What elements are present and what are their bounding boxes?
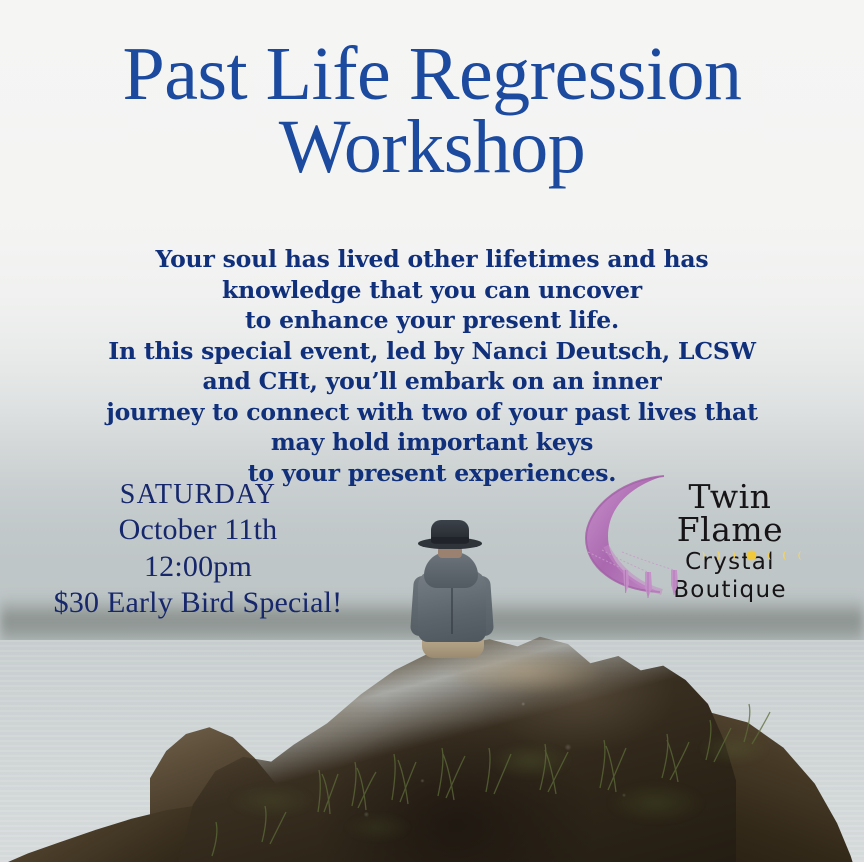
event-time: 12:00pm [48,549,348,586]
title-line-2: Workshop [0,111,864,184]
description-line: knowledge that you can uncover [0,275,864,306]
moss-patch-right [470,716,770,862]
title-line-1: Past Life Regression [0,38,864,111]
waning-gibbous-icon [762,550,773,561]
event-day: SATURDAY [48,478,348,512]
poster-title: Past Life Regression Workshop [0,38,864,184]
event-details: SATURDAY October 11th 12:00pm $30 Early … [48,478,348,622]
event-price: $30 Early Bird Special! [48,585,348,622]
person-silhouette [404,510,500,656]
event-date: October 11th [48,512,348,549]
description-text: Your soul has lived other lifetimes and … [0,244,864,488]
description-line: to enhance your present life. [0,305,864,336]
description-line: Your soul has lived other lifetimes and … [0,244,864,275]
description-line: and CHt, you’ll embark on an inner [0,366,864,397]
description-line: journey to connect with two of your past… [0,397,864,428]
brand-logo: Twin Flame Crystal Boutique [576,468,824,618]
full-moon-icon [746,550,757,561]
waning-crescent-icon [794,550,805,561]
description-line: In this special event, led by Nanci Deut… [0,336,864,367]
crystal-tassels-icon [582,548,712,618]
waxing-gibbous-icon [730,550,741,561]
description-line: may hold important keys [0,427,864,458]
moss-patch-left [200,760,440,862]
person-hat-band [431,537,469,543]
waning-crescent-icon [778,550,789,561]
waxing-crescent-icon [714,550,725,561]
event-poster: Past Life Regression Workshop Your soul … [0,0,864,862]
logo-line-1: Twin Flame [632,480,828,546]
